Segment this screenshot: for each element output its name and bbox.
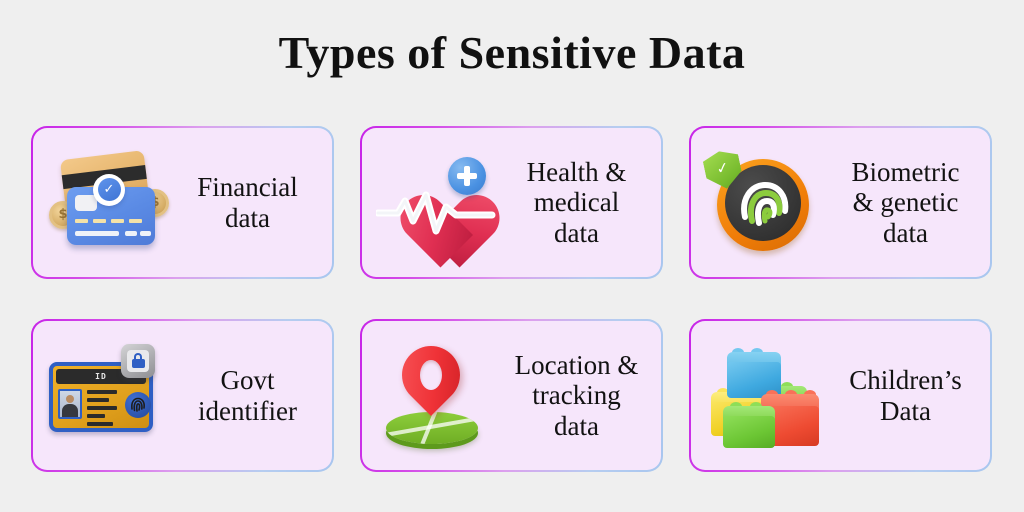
pin-hole [420,360,442,390]
avatar-body [62,404,78,417]
card-financial-data[interactable]: $ $ ✓ Financial data [31,126,334,279]
lock-body [132,359,145,368]
card-label-childrens-data: Children’s Data [831,365,990,425]
credit-cards-coins-icon: $ $ ✓ [47,147,173,259]
id-card-header-label: ID [95,372,107,381]
check-icon: ✓ [98,178,121,201]
lock-icon [132,353,145,368]
medical-cross-badge [448,157,486,195]
card-label-biometric-genetic-data: Biometric & genetic data [831,157,990,248]
fingerprint-shield-icon: ✓ [705,147,831,259]
toy-building-blocks-icon [705,340,831,452]
card-label-location-tracking-data: Location & tracking data [502,350,661,441]
page-title: Types of Sensitive Data [0,30,1024,76]
infographic-page: Types of Sensitive Data $ $ [0,0,1024,512]
id-text-lines [87,390,117,426]
shield-check-icon: ✓ [715,159,730,176]
padlock-inner [127,350,149,372]
card-exp-bar-1 [125,231,137,236]
card-childrens-data[interactable]: Children’s Data [689,319,992,472]
card-govt-identifier[interactable]: ID [31,319,334,472]
card-label-govt-identifier: Govt identifier [173,365,332,425]
avatar-head [66,395,74,403]
card-label-health-medical-data: Health & medical data [502,157,661,248]
heart-heartbeat-medical-cross-icon [376,147,502,259]
card-health-medical-data[interactable]: Health & medical data [360,126,663,279]
verified-check-badge: ✓ [93,174,125,206]
card-biometric-genetic-data[interactable]: ✓ Biometric & genetic data [689,126,992,279]
card-location-tracking-data[interactable]: Location & tracking data [360,319,663,472]
sensitive-data-card-grid: $ $ ✓ Financial data [31,126,993,472]
id-card-lock-icon: ID [47,340,173,452]
card-number-blocks [75,219,142,223]
map-pin-icon [376,340,502,452]
padlock-badge [121,344,155,378]
id-fingerprint-icon [125,392,151,418]
id-photo-avatar [58,389,82,419]
card-label-financial-data: Financial data [173,172,332,232]
card-name-bar [75,231,119,236]
card-exp-bar-2 [140,231,151,236]
cross-vertical-bar [464,166,470,186]
location-pin-shape [402,346,460,428]
